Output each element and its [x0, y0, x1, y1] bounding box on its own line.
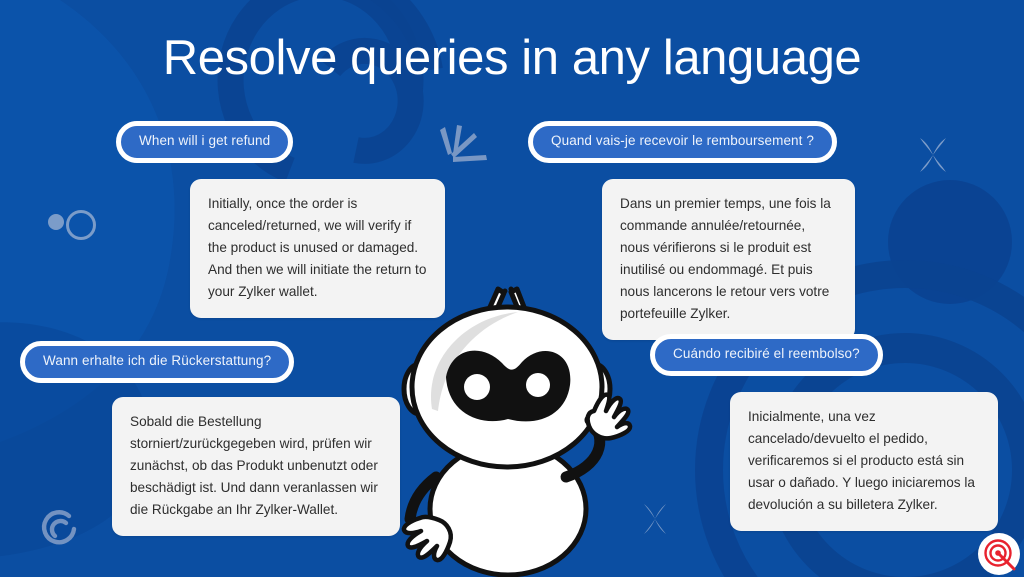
question-bubble-english[interactable]: When will i get refund — [116, 121, 293, 163]
question-bubble-french[interactable]: Quand vais-je recevoir le remboursement … — [528, 121, 837, 163]
question-bubble-german[interactable]: Wann erhalte ich die Rückerstattung? — [20, 341, 294, 383]
robot-hand-left — [404, 517, 451, 560]
question-row: Cuándo recibiré el reembolso? — [650, 334, 1010, 376]
ring-shape — [66, 210, 96, 240]
question-row: Quand vais-je recevoir le remboursement … — [528, 121, 868, 163]
question-row: Wann erhalte ich die Rückerstattung? — [20, 341, 410, 383]
bg-circle-right — [888, 180, 1012, 304]
slide-canvas: Resolve queries in any language — [0, 0, 1024, 577]
robot-mascot — [398, 281, 633, 577]
answer-bubble-spanish: Inicialmente, una vez cancelado/devuelto… — [730, 392, 998, 531]
zia-logo — [978, 533, 1020, 575]
dot-shape — [48, 214, 64, 230]
conversation-german: Wann erhalte ich die Rückerstattung? Sob… — [20, 341, 410, 536]
conversation-spanish: Cuándo recibiré el reembolso? Inicialmen… — [650, 334, 1010, 531]
answer-bubble-french: Dans un premier temps, une fois la comma… — [602, 179, 855, 340]
answer-bubble-german: Sobald die Bestellung storniert/zurückge… — [112, 397, 400, 536]
robot-eye-left — [464, 374, 490, 400]
robot-eye-right — [526, 373, 550, 397]
question-row: When will i get refund — [116, 121, 456, 163]
sparkle-x-icon — [912, 134, 954, 176]
question-bubble-spanish[interactable]: Cuándo recibiré el reembolso? — [650, 334, 883, 376]
page-title: Resolve queries in any language — [0, 30, 1024, 86]
